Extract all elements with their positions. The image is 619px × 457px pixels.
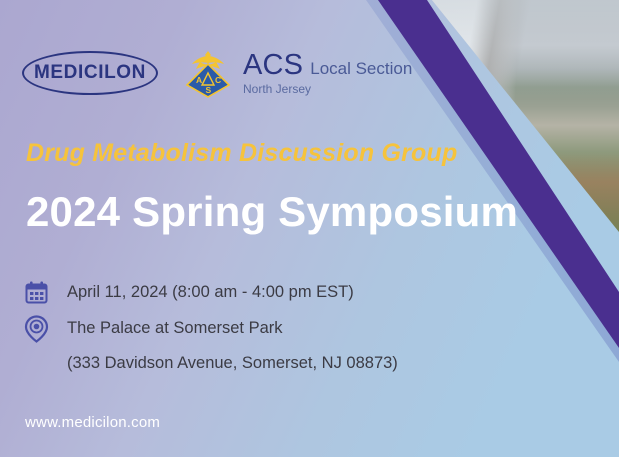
acs-local-section-logo: A C S ACS Local Section North Jersey <box>182 47 412 99</box>
svg-text:A: A <box>196 75 202 85</box>
event-date-text: April 11, 2024 (8:00 am - 4:00 pm EST) <box>67 283 354 302</box>
website-url[interactable]: www.medicilon.com <box>25 414 160 431</box>
location-pin-icon <box>22 314 51 343</box>
svg-text:S: S <box>206 85 212 95</box>
medicilon-logo: MEDICILON <box>22 51 158 95</box>
svg-text:C: C <box>215 75 221 85</box>
logo-row: MEDICILON A C <box>22 47 412 99</box>
event-kicker: Drug Metabolism Discussion Group <box>26 139 457 168</box>
event-venue-text: The Palace at Somerset Park <box>67 319 283 338</box>
event-address-text: (333 Davidson Avenue, Somerset, NJ 08873… <box>67 354 542 373</box>
medicilon-wordmark: MEDICILON <box>34 62 146 84</box>
acs-wordmark: ACS Local Section North Jersey <box>243 51 412 95</box>
acs-subtitle: Local Section <box>310 60 412 77</box>
event-banner: MEDICILON A C <box>0 0 619 457</box>
acs-acronym: ACS <box>243 51 303 80</box>
event-details: April 11, 2024 (8:00 am - 4:00 pm EST) T… <box>22 278 542 373</box>
event-date-row: April 11, 2024 (8:00 am - 4:00 pm EST) <box>22 278 542 307</box>
calendar-icon <box>22 278 51 307</box>
acs-diamond-eagle-icon: A C S <box>182 47 234 99</box>
acs-primary-line: ACS Local Section <box>243 51 412 80</box>
event-venue-row: The Palace at Somerset Park <box>22 314 542 343</box>
event-title: 2024 Spring Symposium <box>26 188 518 236</box>
acs-chapter-name: North Jersey <box>243 83 412 95</box>
